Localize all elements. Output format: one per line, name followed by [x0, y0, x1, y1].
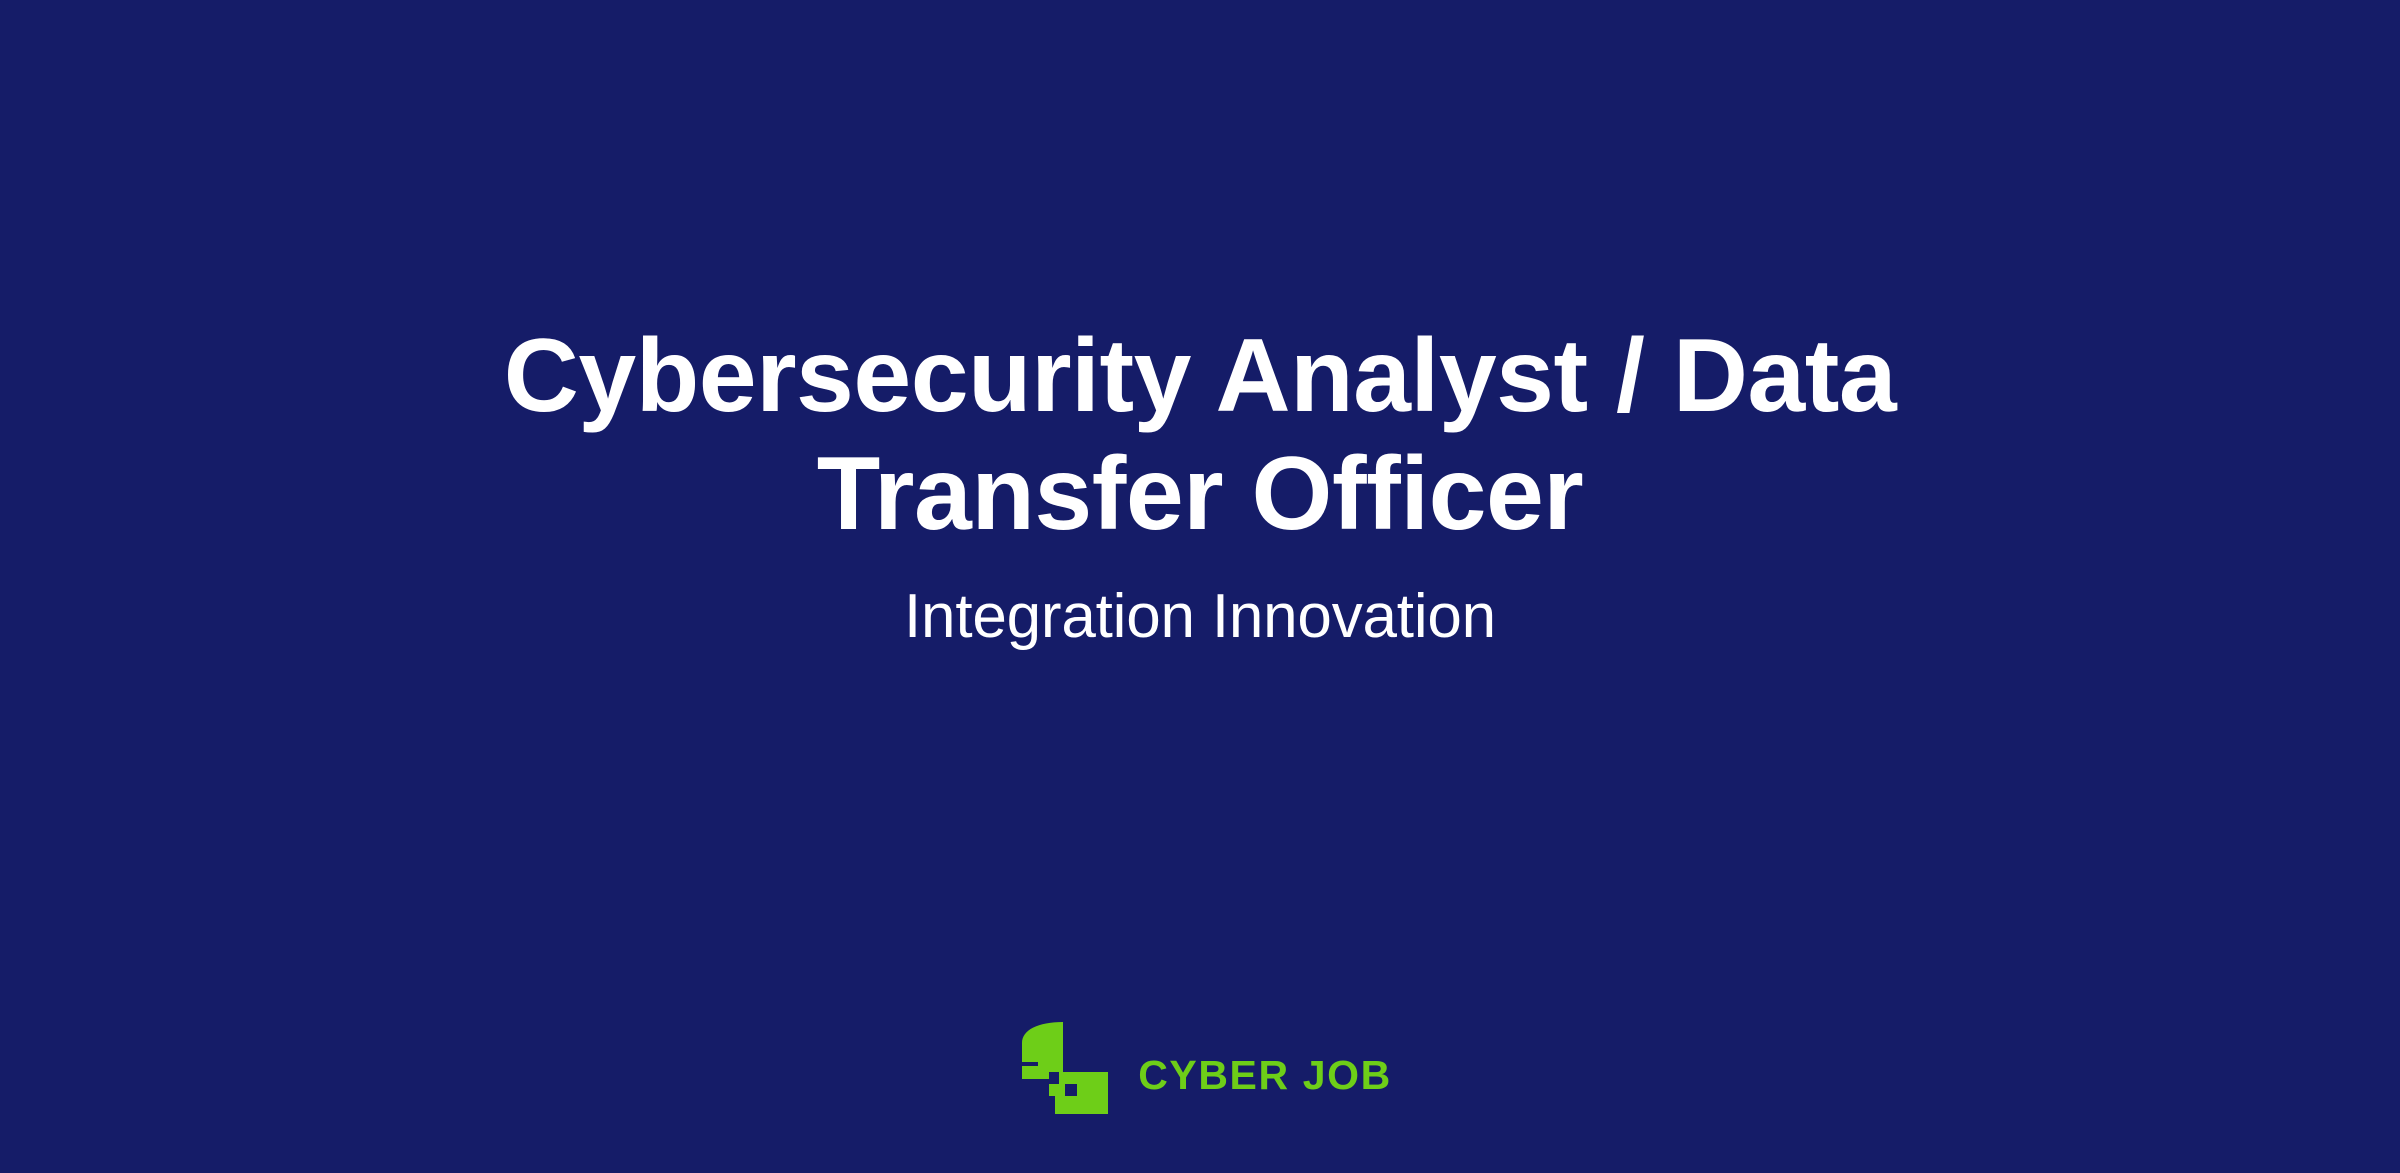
brand-wordmark: CYBER JOB: [1138, 1055, 1392, 1096]
cyber-job-logo-icon: [1008, 1022, 1108, 1114]
job-posting-slide: Cybersecurity Analyst / Data Transfer Of…: [0, 0, 2400, 1173]
headline-block: Cybersecurity Analyst / Data Transfer Of…: [0, 318, 2400, 652]
company-name: Integration Innovation: [0, 581, 2400, 652]
page-title: Cybersecurity Analyst / Data Transfer Of…: [370, 318, 2030, 553]
brand-lockup: CYBER JOB: [0, 1022, 2400, 1114]
